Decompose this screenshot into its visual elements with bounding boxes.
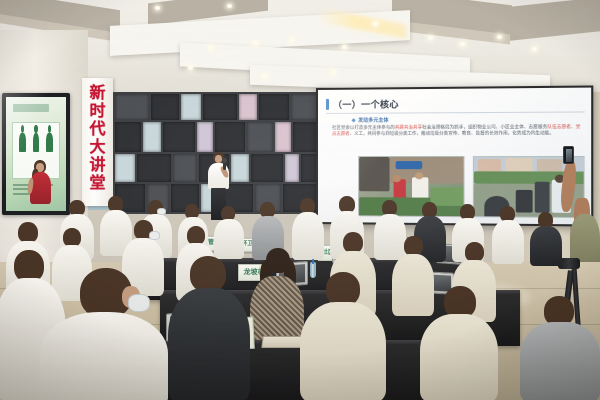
- phone-camera: [563, 146, 574, 164]
- vertical-red-banner: 新 时 代 大 讲 堂: [82, 78, 113, 206]
- body-seg-6: 宣传、教育、监督的长效作用，化势成为内生动能。: [448, 132, 554, 137]
- banner-char-4: 讲: [89, 156, 105, 174]
- slide-title-row: （一）一个核心: [326, 97, 399, 111]
- body-seg-5: 、义工，共同参与到垃圾分类工作，推动垃圾分类: [350, 132, 449, 137]
- face-mask: [149, 231, 160, 240]
- body-seg-1: 共建共治共享: [395, 126, 422, 131]
- face-mask: [157, 208, 166, 215]
- microphone: [223, 161, 226, 170]
- attendant-in-red: [28, 160, 54, 222]
- bullet-diamond-icon: [351, 118, 355, 122]
- lecture-hall-photo: 新 时 代 大 讲 堂: [0, 0, 600, 400]
- audience-front-edge-right: [520, 296, 600, 400]
- slide-title: （一）一个核心: [333, 97, 399, 111]
- banner-char-0: 新: [89, 84, 105, 102]
- audience-front-far-right: [420, 286, 498, 400]
- slide-bullet-text: 发动多元主体: [358, 117, 388, 124]
- banner-char-5: 堂: [89, 174, 105, 192]
- banner-char-3: 大: [89, 138, 105, 156]
- slide-bullet-row: 发动多元主体: [352, 117, 388, 124]
- slide-divider: [326, 111, 585, 113]
- body-seg-0: 社区党委以打造多元主体参与的: [332, 126, 395, 131]
- title-accent-bar: [326, 99, 329, 110]
- audience-front-center: [40, 268, 168, 400]
- audience-front-right-cream: [300, 272, 386, 400]
- audience-back-12: [492, 206, 524, 262]
- audience-back-13: [530, 212, 562, 264]
- banner-char-2: 代: [89, 120, 105, 138]
- audience-front-right-dark: [168, 256, 250, 400]
- body-seg-2: 社会治理格局为抓手，组织物业公司、小区业: [422, 125, 514, 130]
- slide-body-text: 社区党委以打造多元主体参与的共建共治共享社会治理格局为抓手，组织物业公司、小区业…: [332, 125, 580, 139]
- audience-back-5: [214, 206, 244, 258]
- banner-char-1: 时: [89, 102, 105, 120]
- face-mask: [128, 294, 150, 312]
- body-seg-3: 主体、志愿服务: [514, 125, 547, 130]
